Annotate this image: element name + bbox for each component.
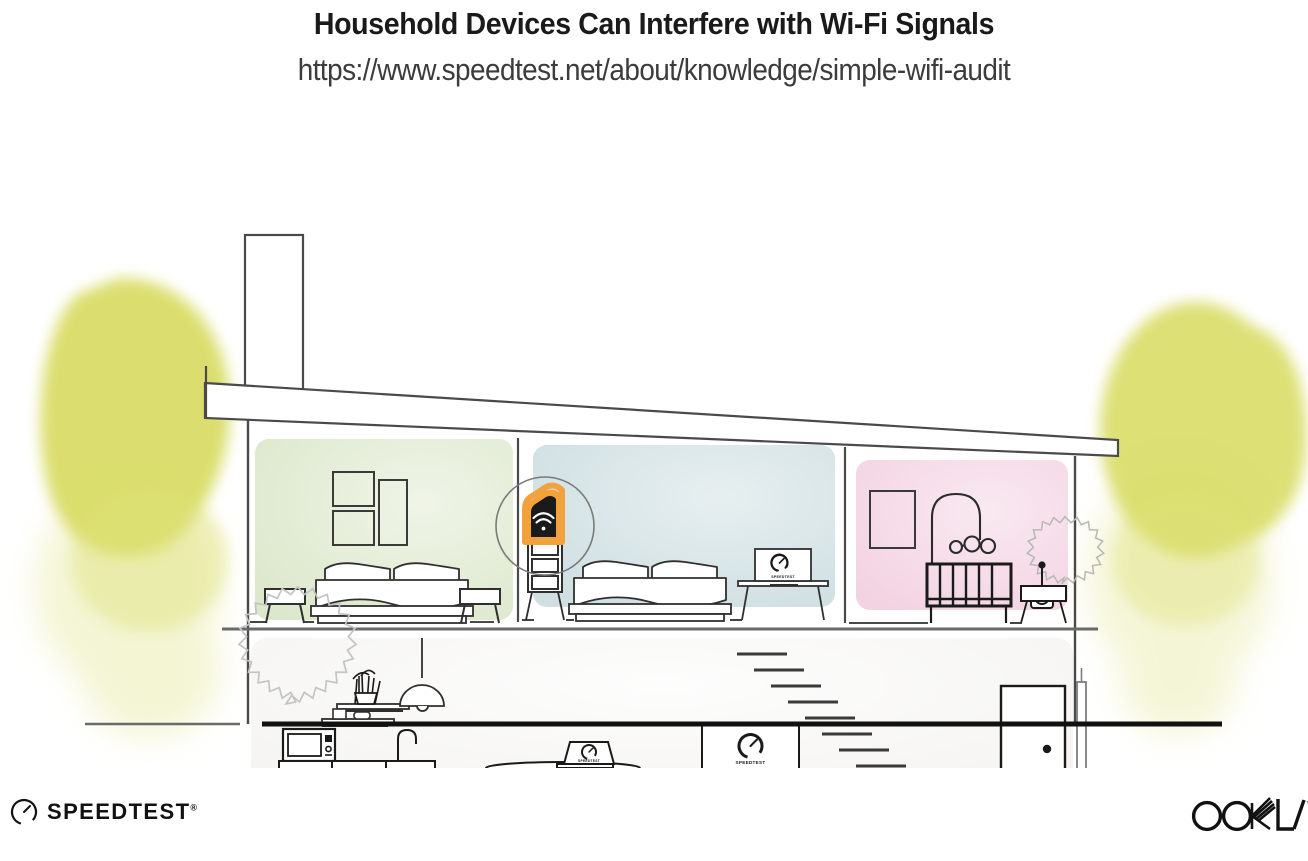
- speedtest-gauge-icon: [10, 798, 38, 826]
- computer-monitor[interactable]: SPEEDTEST: [755, 549, 811, 586]
- infographic-page: Household Devices Can Interfere with Wi-…: [0, 0, 1308, 861]
- speedtest-logo: SPEEDTEST®: [10, 798, 197, 826]
- source-url: https://www.speedtest.net/about/knowledg…: [65, 52, 1242, 88]
- television[interactable]: SPEEDTEST: [702, 725, 799, 768]
- foliage-left: [36, 278, 230, 738]
- chimney: [245, 235, 303, 400]
- tv-speedtest-label: SPEEDTEST: [735, 760, 765, 765]
- ookla-la: [1278, 799, 1304, 829]
- foliage-right: [1088, 302, 1306, 736]
- room-bedroom-green: [250, 439, 513, 623]
- ookla-logo: ™: [1190, 795, 1308, 837]
- kitchen-counters: [279, 761, 435, 768]
- wifi-dot: [542, 527, 546, 531]
- microwave[interactable]: [283, 729, 335, 761]
- wifi-router[interactable]: [525, 486, 562, 543]
- room-bedroom-blue: SPEEDTEST: [522, 445, 835, 621]
- monitor-speedtest-label: SPEEDTEST: [771, 575, 795, 579]
- illustration-scene: SPEEDTEST: [0, 108, 1308, 768]
- page-title: Household Devices Can Interfere with Wi-…: [52, 6, 1255, 42]
- header: Household Devices Can Interfere with Wi-…: [0, 0, 1308, 108]
- sidelight-window: [1077, 668, 1086, 768]
- dresser: [526, 538, 564, 620]
- ookla-k-rays: [1252, 798, 1275, 829]
- laptop-speedtest-label: SPEEDTEST: [578, 759, 601, 763]
- footer: SPEEDTEST®: [0, 768, 1308, 861]
- wall-shelf-upper: [337, 704, 409, 712]
- registered-mark: ®: [190, 803, 197, 813]
- speedtest-wordmark: SPEEDTEST®: [47, 799, 197, 825]
- room-nursery-pink: [849, 460, 1104, 623]
- door-knob[interactable]: [1043, 745, 1051, 753]
